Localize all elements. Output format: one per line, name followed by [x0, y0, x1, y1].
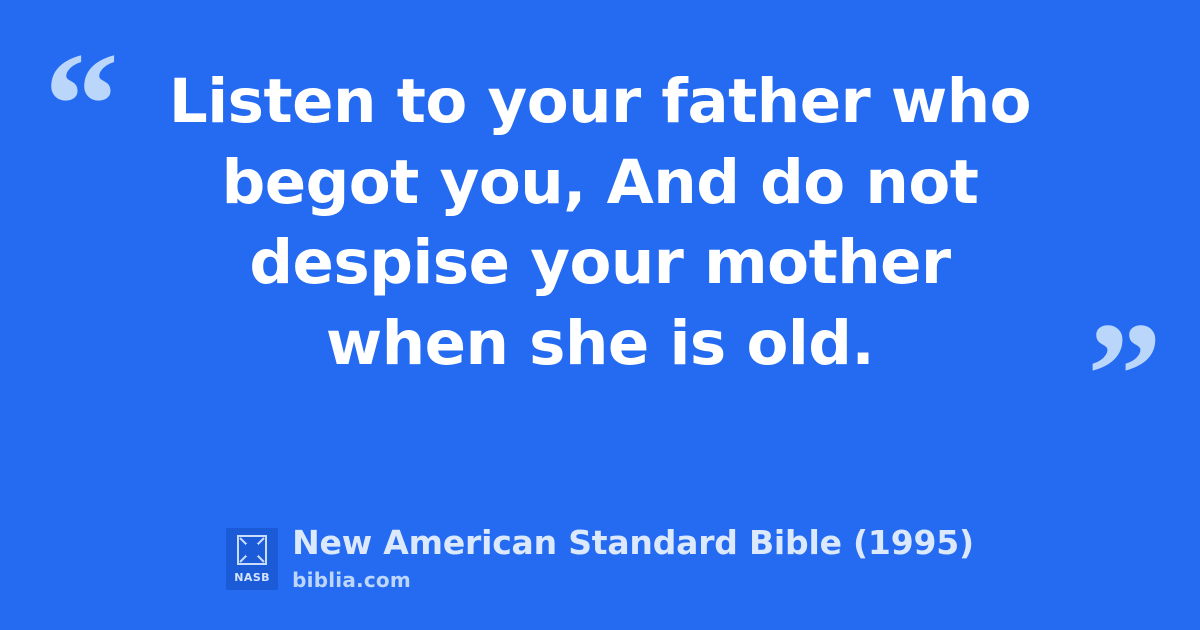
nasb-logo: NASB [226, 528, 278, 590]
quote-card: “ Listen to your father who begot you, A… [0, 0, 1200, 630]
footer-inner: NASB New American Standard Bible (1995) … [226, 524, 974, 592]
source-site[interactable]: biblia.com [292, 568, 411, 592]
source-title: New American Standard Bible (1995) [292, 524, 974, 562]
closing-quote-icon: ” [1087, 300, 1162, 450]
footer: NASB New American Standard Bible (1995) … [0, 524, 1200, 592]
nasb-bible-logo-icon [237, 535, 267, 565]
nasb-logo-label: NASB [226, 571, 278, 584]
footer-text-block: New American Standard Bible (1995) bibli… [292, 524, 974, 592]
quote-text: Listen to your father who begot you, And… [150, 62, 1050, 384]
opening-quote-icon: “ [44, 30, 119, 180]
